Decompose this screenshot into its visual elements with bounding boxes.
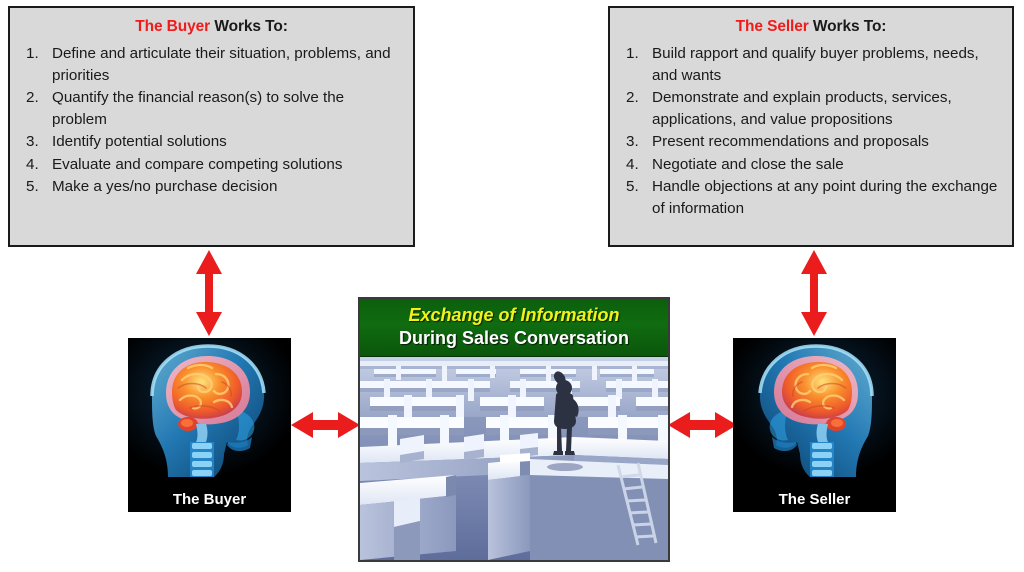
seller-panel-title-suffix: Works To:	[809, 18, 887, 35]
buyer-panel-title: The Buyer Works To:	[20, 18, 403, 36]
exchange-banner: Exchange of Information During Sales Con…	[360, 299, 668, 357]
list-item: Demonstrate and explain products, servic…	[620, 87, 1002, 130]
buyer-panel-title-suffix: Works To:	[210, 18, 288, 35]
buyer-image-card: The Buyer	[128, 338, 291, 512]
maze-graphic	[360, 355, 668, 560]
double-arrow-horizontal-icon	[668, 408, 737, 442]
buyer-image-label: The Buyer	[128, 491, 291, 508]
banner-subhead: During Sales Conversation	[360, 327, 668, 350]
double-arrow-vertical-buyer	[192, 250, 226, 336]
buyer-task-list: Define and articulate their situation, p…	[20, 43, 403, 198]
banner-headline: Exchange of Information	[360, 303, 668, 327]
list-item: Quantify the financial reason(s) to solv…	[20, 87, 403, 130]
double-arrow-horizontal-buyer	[291, 408, 360, 442]
list-item: Make a yes/no purchase decision	[20, 176, 403, 198]
brain-head-xray-icon	[733, 338, 896, 478]
seller-panel-title: The Seller Works To:	[620, 18, 1002, 36]
list-item: Identify potential solutions	[20, 131, 403, 153]
double-arrow-vertical-seller	[797, 250, 831, 336]
buyer-works-to-panel: The Buyer Works To: Define and articulat…	[8, 6, 415, 247]
seller-works-to-panel: The Seller Works To: Build rapport and q…	[608, 6, 1014, 247]
maze-with-figure-icon	[360, 355, 668, 560]
list-item: Evaluate and compare competing solutions	[20, 154, 403, 176]
list-item: Handle objections at any point during th…	[620, 176, 1002, 219]
list-item: Build rapport and qualify buyer problems…	[620, 43, 1002, 86]
exchange-of-information-card: Exchange of Information During Sales Con…	[358, 297, 670, 562]
brain-head-xray-graphic	[128, 338, 291, 478]
double-arrow-vertical-icon	[797, 250, 831, 336]
diagram-canvas: The Buyer Works To: Define and articulat…	[0, 0, 1024, 572]
double-arrow-horizontal-icon	[291, 408, 360, 442]
buyer-panel-title-actor: The Buyer	[135, 18, 210, 35]
seller-panel-title-actor: The Seller	[736, 18, 809, 35]
list-item: Define and articulate their situation, p…	[20, 43, 403, 86]
list-item: Negotiate and close the sale	[620, 154, 1002, 176]
seller-image-label: The Seller	[733, 491, 896, 508]
double-arrow-vertical-icon	[192, 250, 226, 336]
double-arrow-horizontal-seller	[668, 408, 737, 442]
brain-head-xray-icon	[128, 338, 291, 478]
seller-task-list: Build rapport and qualify buyer problems…	[620, 43, 1002, 220]
seller-image-card: The Seller	[733, 338, 896, 512]
brain-head-xray-graphic	[733, 338, 896, 478]
list-item: Present recommendations and proposals	[620, 131, 1002, 153]
